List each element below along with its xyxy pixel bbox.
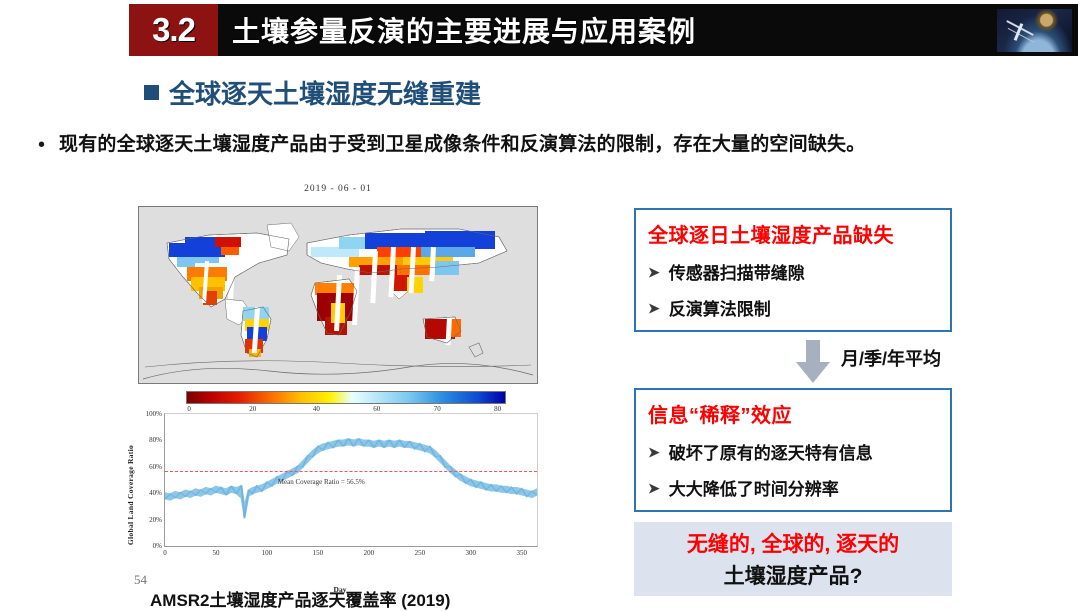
mean-coverage-label: Mean Coverage Ratio = 56.5%	[278, 478, 365, 486]
chart-y-tick: 80%	[149, 436, 162, 444]
box-list-item-label: 传感器扫描带缝隙	[669, 259, 805, 284]
chart-y-tick: 0%	[153, 542, 162, 550]
box-list-item: ➤ 传感器扫描带缝隙	[648, 259, 938, 284]
chart-x-tick: 300	[466, 549, 477, 557]
figure-caption: AMSR2土壤湿度产品逐天覆盖率 (2019)	[150, 586, 450, 611]
chart-y-tick: 60%	[149, 463, 162, 471]
chart-x-tick: 150	[313, 549, 324, 557]
question-line-2: 土壤湿度产品?	[724, 560, 863, 590]
chart-x-tick: 350	[516, 549, 527, 557]
map-plot-area	[138, 206, 538, 384]
colorbar-gradient	[186, 391, 506, 404]
box-list-item-label: 反演算法限制	[669, 295, 771, 320]
subheading-label: 全球逐天土壤湿度无缝重建	[169, 74, 481, 111]
map-svg	[139, 207, 537, 383]
box-list-item: ➤ 反演算法限制	[648, 295, 938, 320]
chart-x-tick: 200	[364, 549, 375, 557]
chart-y-tick: 100%	[146, 410, 162, 418]
slide-page-number: 54	[134, 572, 147, 588]
box-title: 全球逐日土壤湿度产品缺失	[648, 219, 938, 248]
coverage-ratio-line-chart: Global Land Coverage Ratio 100% 80% 60% …	[130, 405, 550, 573]
bullet-paragraph-text: 现有的全球逐天土壤湿度产品由于受到卫星成像条件和反演算法的限制，存在大量的空间缺…	[59, 133, 865, 157]
box-list-item: ➤ 破坏了原有的逐天特有信息	[648, 439, 938, 464]
box-title: 信息“稀释”效应	[648, 399, 938, 428]
chart-y-tick: 20%	[149, 516, 162, 524]
section-number-badge: 3.2	[129, 4, 218, 56]
chart-x-tick: 250	[415, 549, 426, 557]
box-list-item-label: 大大降低了时间分辨率	[669, 475, 839, 500]
chart-plot-area: 100% 80% 60% 40% 20% 0% 0 50 100 150 200…	[164, 413, 538, 547]
info-box-dilution-effect: 信息“稀释”效应 ➤ 破坏了原有的逐天特有信息 ➤ 大大降低了时间分辨率	[634, 388, 952, 512]
box-list-item: ➤ 大大降低了时间分辨率	[648, 475, 938, 500]
question-line-1: 无缝的, 全球的, 逐天的	[687, 528, 899, 558]
chart-x-tick: 100	[262, 549, 273, 557]
chart-y-axis-label: Global Land Coverage Ratio	[126, 445, 135, 545]
info-box-question: 无缝的, 全球的, 逐天的 土壤湿度产品?	[634, 522, 952, 596]
chevron-right-icon: ➤	[648, 481, 660, 495]
chevron-right-icon: ➤	[648, 301, 660, 315]
map-date-label: 2019 - 06 - 01	[128, 184, 548, 194]
chart-x-tick: 50	[212, 549, 219, 557]
chevron-right-icon: ➤	[648, 265, 660, 279]
bullet-dot-icon: •	[38, 133, 45, 155]
averaging-arrow-group: 月/季/年平均	[795, 340, 955, 384]
subheading: 全球逐天土壤湿度无缝重建	[144, 74, 481, 111]
mean-coverage-line	[165, 471, 537, 472]
square-bullet-icon	[144, 85, 159, 100]
chevron-right-icon: ➤	[648, 445, 660, 459]
bullet-paragraph: • 现有的全球逐天土壤湿度产品由于受到卫星成像条件和反演算法的限制，存在大量的空…	[38, 133, 1058, 157]
chart-y-tick: 40%	[149, 489, 162, 497]
info-box-missing-products: 全球逐日土壤湿度产品缺失 ➤ 传感器扫描带缝隙 ➤ 反演算法限制	[634, 208, 952, 332]
global-soil-moisture-map: 2019 - 06 - 01	[128, 182, 548, 407]
chart-x-tick: 0	[163, 549, 167, 557]
satellite-earth-image-icon	[997, 9, 1072, 52]
box-list-item-label: 破坏了原有的逐天特有信息	[669, 439, 873, 464]
page-title: 土壤参量反演的主要进展与应用案例	[232, 10, 696, 50]
averaging-arrow-label: 月/季/年平均	[841, 345, 941, 371]
down-arrow-icon	[795, 340, 831, 384]
slide-title-bar: 3.2 土壤参量反演的主要进展与应用案例	[129, 4, 1078, 56]
